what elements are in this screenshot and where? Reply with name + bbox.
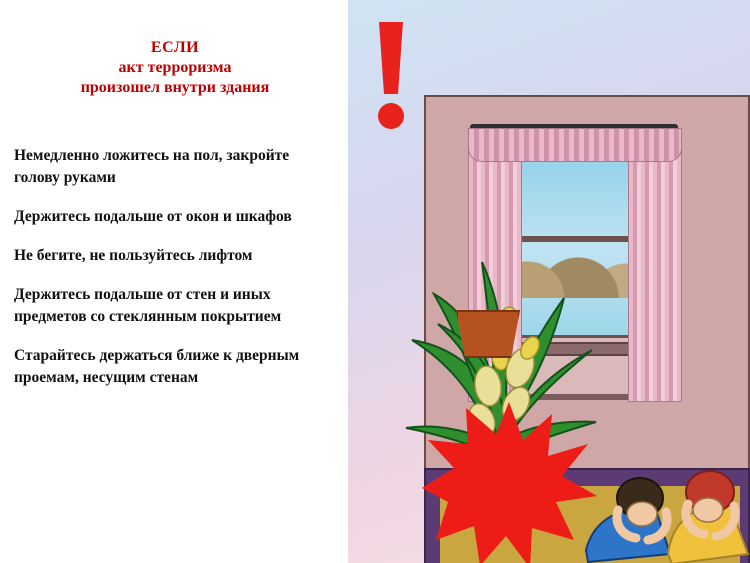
heading-line-2: акт терроризма <box>10 58 340 78</box>
instruction-item-5: Старайтесь держаться ближе к дверным про… <box>14 345 326 389</box>
curtain-right <box>628 128 682 402</box>
plant-pot <box>456 310 520 358</box>
room-scene <box>400 60 750 563</box>
instruction-item-1: Немедленно ложитесь на пол, закройте гол… <box>14 145 326 189</box>
heading-line-3: произошел внутри здания <box>10 78 340 98</box>
illustration-panel <box>348 0 750 563</box>
person-yellow-shirt <box>668 471 748 563</box>
instruction-item-2: Держитесь подальше от окон и шкафов <box>14 206 326 228</box>
curtain-valance <box>468 128 682 162</box>
explosion-star-icon <box>422 400 597 563</box>
person-blue-shirt <box>586 478 670 562</box>
heading-line-1: ЕСЛИ <box>10 38 340 58</box>
instruction-item-4: Держитесь подальше от стен и иных предме… <box>14 284 326 328</box>
text-column: ЕСЛИ акт терроризма произошел внутри зда… <box>0 0 348 563</box>
slide-canvas: ЕСЛИ акт терроризма произошел внутри зда… <box>0 0 750 563</box>
instruction-item-3: Не бегите, не пользуйтесь лифтом <box>14 245 326 267</box>
people-taking-cover <box>584 458 750 563</box>
instruction-list: Немедленно ложитесь на пол, закройте гол… <box>14 145 326 406</box>
slide-heading: ЕСЛИ акт терроризма произошел внутри зда… <box>10 38 340 98</box>
